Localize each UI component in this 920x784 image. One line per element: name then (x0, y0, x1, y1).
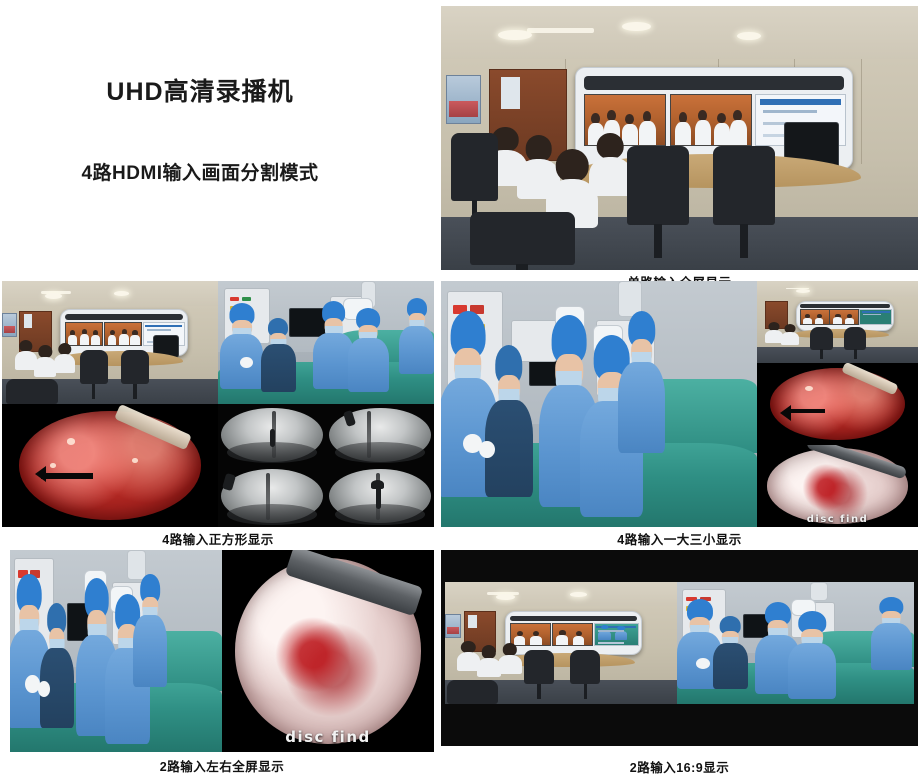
unit-top-bar (800, 304, 891, 308)
screw-shaft (376, 486, 381, 508)
panel-quad-square[interactable] (2, 281, 434, 527)
quad-cell-operating-room (218, 281, 434, 404)
office-chair (570, 650, 600, 684)
office-chair (524, 650, 554, 684)
office-chair (844, 327, 867, 350)
office-chair (80, 350, 108, 384)
gloved-hand (240, 357, 253, 368)
surgeon (348, 308, 389, 392)
office-chair (447, 680, 498, 704)
telepresence-unit (505, 611, 642, 654)
quad-cell-endoscope (2, 404, 218, 527)
wall-seam (861, 59, 862, 165)
annotation-arrow-icon (41, 473, 93, 479)
attendee (781, 324, 799, 345)
small-cell-conference (757, 281, 918, 363)
small-cell-arthroscope: disc find (757, 445, 918, 527)
panel-one-big-three-small[interactable]: disc find (441, 281, 918, 527)
remote-screen-center (552, 623, 593, 646)
remote-crowd (671, 95, 751, 145)
page-title: UHD高清录播机 (0, 72, 400, 108)
ceiling-lamp-icon (570, 592, 586, 597)
remote-crowd (801, 310, 829, 324)
surgeon (133, 574, 167, 687)
soft-tissue-shadow (227, 504, 318, 525)
office-chair (6, 379, 58, 404)
side-display (445, 614, 461, 638)
door-window (468, 615, 477, 628)
operating-room-scene (677, 582, 914, 704)
surgeon (871, 597, 911, 670)
floor (757, 347, 918, 363)
pacs-screen-right (859, 309, 892, 325)
big-cell-operating-room (441, 281, 757, 527)
endoscope-image (2, 404, 218, 527)
surgeon (598, 625, 611, 640)
attendee (589, 133, 632, 196)
dual-cell-operating-room (10, 550, 222, 752)
office-chair (713, 146, 775, 225)
slide-root: UHD高清录播机 4路HDMI输入画面分割模式 (0, 0, 920, 784)
ceiling (445, 582, 677, 609)
conference-room-scene (2, 281, 218, 404)
unit-top-bar (65, 314, 183, 320)
nurse (485, 345, 532, 498)
nurse (261, 318, 296, 392)
wide-cell-conference (445, 582, 677, 704)
xray-tile (326, 466, 434, 528)
arthroscope-field (767, 448, 909, 523)
nurse (40, 603, 74, 728)
xray-tile (218, 404, 326, 466)
page-subtitle: 4路HDMI输入画面分割模式 (0, 158, 400, 185)
surgical-light-arm (810, 582, 829, 601)
surgeon (788, 611, 835, 699)
remote-screen-center (670, 94, 752, 146)
ceiling-lamp-icon (498, 30, 531, 41)
small-cell-endoscope (757, 363, 918, 445)
door-window (501, 77, 520, 109)
letterbox-bottom (441, 704, 918, 746)
remote-screen-center (104, 322, 142, 346)
telepresence-unit (796, 301, 895, 331)
remote-screen-center (829, 309, 859, 325)
door-window (24, 314, 33, 328)
caption-dual-16-9: 2路输入16:9显示 (441, 757, 918, 773)
operating-room-scene (441, 281, 757, 527)
surgeon (399, 298, 434, 374)
side-display (446, 75, 481, 125)
specular-highlight (67, 438, 76, 444)
office-chair (121, 350, 149, 384)
soft-tissue-shadow (335, 442, 426, 463)
office-chair (470, 212, 575, 265)
disc-find-overlay: disc find (757, 514, 918, 525)
office-chair (810, 327, 833, 350)
annotation-arrow-icon (786, 409, 825, 413)
title-block: UHD高清录播机 4路HDMI输入画面分割模式 (0, 0, 440, 278)
nurse (713, 616, 749, 689)
unit-top-bar (510, 616, 636, 622)
caption-one-big-three-small: 4路输入一大三小显示 (441, 529, 918, 545)
remote-crowd (553, 624, 592, 645)
gloved-hand (479, 441, 495, 458)
letterbox-top (441, 550, 918, 582)
caption-dual-side-by-side: 2路输入左右全屏显示 (10, 756, 434, 772)
remote-crowd (105, 323, 141, 345)
attendee (15, 340, 37, 370)
attendee (457, 641, 480, 672)
side-display (2, 313, 17, 337)
caption-quad-square: 4路输入正方形显示 (2, 529, 434, 545)
quad-cell-xray (218, 404, 434, 527)
endoscope-image (757, 363, 918, 445)
panel-dual-side-by-side[interactable]: disc find (10, 550, 434, 752)
ceiling-lamp-icon (114, 291, 129, 296)
remote-screen-left (800, 309, 830, 325)
ceiling (2, 281, 218, 308)
conference-room-scene (445, 582, 677, 704)
conference-table (792, 329, 889, 339)
surgeon (618, 311, 665, 454)
gloved-hand (696, 658, 710, 669)
ceiling (757, 281, 918, 299)
specular-highlight (132, 458, 138, 463)
dual-cell-arthroscope: disc find (222, 550, 434, 752)
arthroscope-image: disc find (757, 445, 918, 527)
remote-crowd (830, 310, 858, 324)
conference-room-scene (441, 6, 918, 270)
arthroscope-image: disc find (222, 550, 434, 752)
panel-dual-16-9[interactable] (441, 550, 918, 746)
attendee (34, 345, 56, 377)
panel-single-full[interactable] (441, 6, 918, 270)
xray-tile (326, 404, 434, 466)
attendee (54, 343, 76, 374)
remote-crowd (511, 624, 550, 645)
instrument-shadow (270, 429, 275, 447)
attendee (765, 322, 783, 343)
operating-room-scene (10, 550, 222, 752)
surgeon (615, 626, 628, 640)
office-chair (451, 133, 499, 202)
attendee (477, 645, 500, 677)
unit-top-bar (584, 76, 844, 90)
surgeon (220, 303, 263, 389)
attendee (498, 643, 521, 674)
specular-highlight (50, 463, 56, 468)
or-feed-screen-right (594, 623, 639, 646)
ceiling-lamp-icon (622, 22, 651, 31)
disc-find-overlay: disc find (222, 728, 434, 746)
conference-room-scene (757, 281, 918, 363)
xray-tile (218, 466, 326, 528)
quad-cell-conference (2, 281, 218, 404)
office-chair (627, 146, 689, 225)
wide-cell-operating-room (677, 582, 914, 704)
operating-room-scene (218, 281, 434, 404)
